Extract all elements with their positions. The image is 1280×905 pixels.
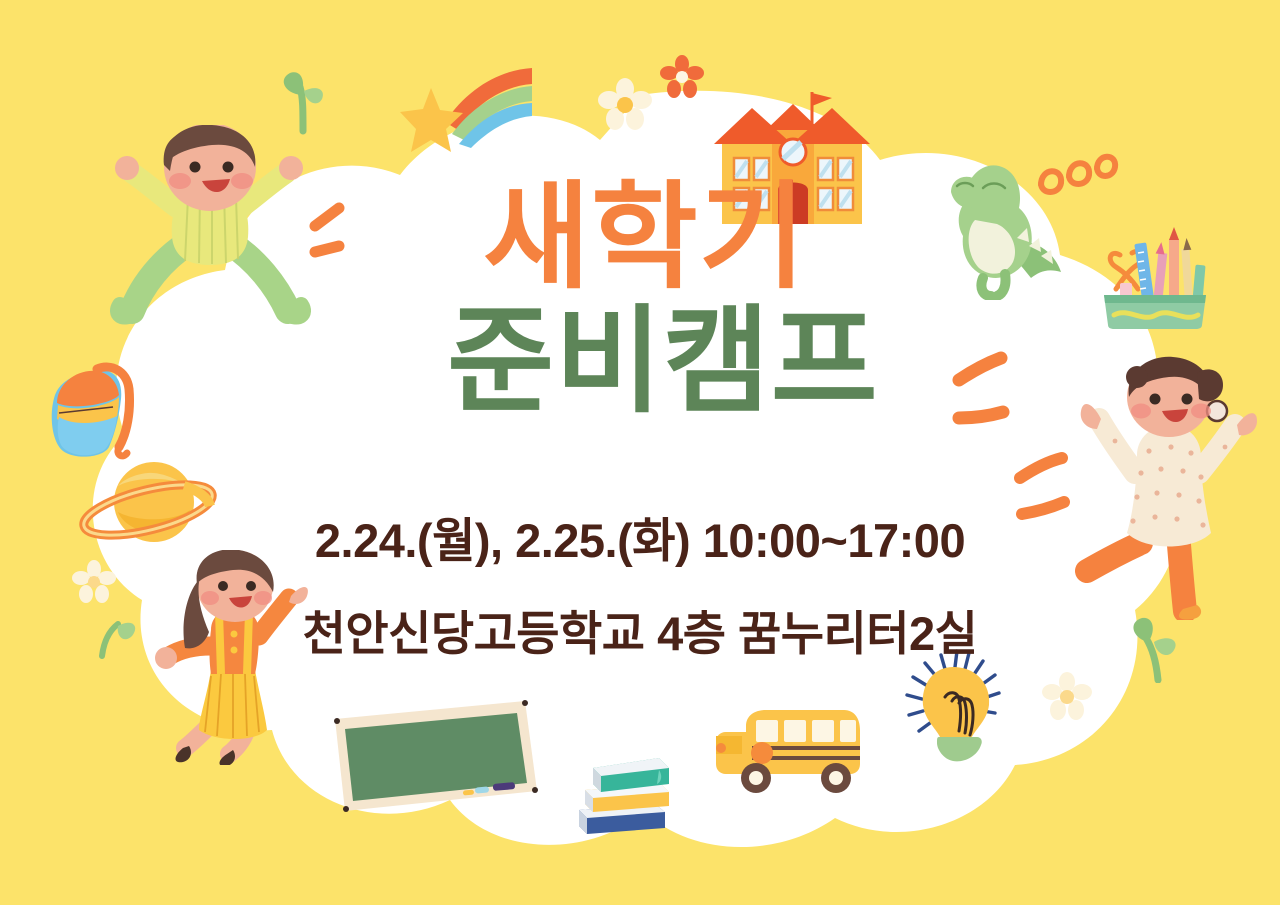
chalkboard-icon bbox=[325, 695, 545, 815]
flower-cream-icon bbox=[598, 78, 652, 132]
event-location: 천안신당고등학교 4층 꿈누리터2실 bbox=[0, 595, 1280, 664]
poster-canvas: 새학기 준비캠프 2.24.(월), 2.25.(화) 10:00~17:00 … bbox=[0, 0, 1280, 905]
flower-orange-icon bbox=[660, 55, 704, 99]
poster-info-block: 2.24.(월), 2.25.(화) 10:00~17:00 천안신당고등학교 … bbox=[0, 502, 1280, 664]
event-date-time: 2.24.(월), 2.25.(화) 10:00~17:00 bbox=[0, 502, 1280, 571]
flower-cream-bottom-icon bbox=[1042, 672, 1092, 722]
school-bus-icon bbox=[712, 692, 872, 797]
shooting-star-rainbow-icon bbox=[400, 52, 535, 157]
book-stack-icon bbox=[565, 748, 680, 838]
poster-title-block: 새학기 준비캠프 bbox=[0, 178, 1280, 421]
title-line-secondary: 준비캠프 bbox=[46, 302, 1280, 420]
title-line-primary: 새학기 bbox=[10, 178, 1280, 296]
